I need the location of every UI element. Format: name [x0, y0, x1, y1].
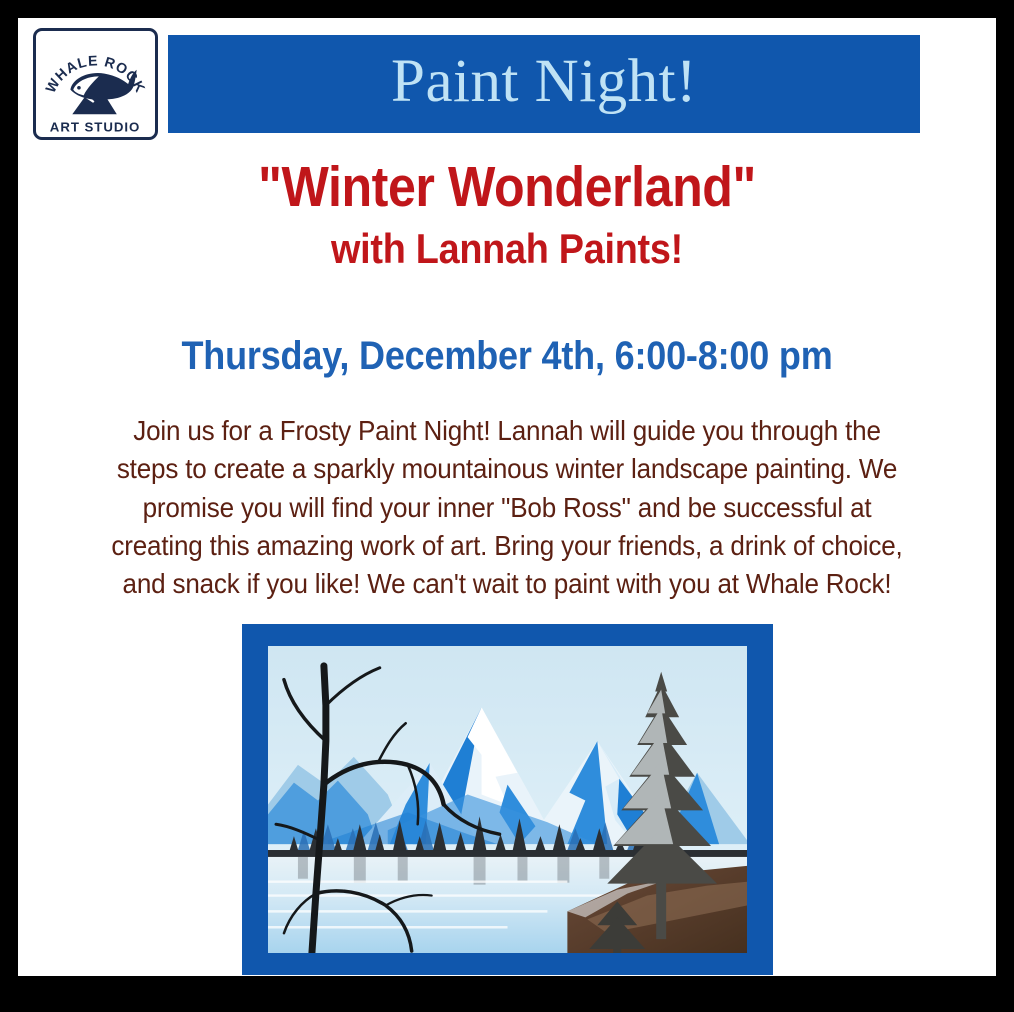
headline-block: "Winter Wonderland" with Lannah Paints! — [18, 158, 996, 273]
poster-page: WHALE ROCK ART STUDIO Paint Night! — [18, 18, 996, 976]
event-date-time: Thursday, December 4th, 6:00-8:00 pm — [67, 334, 947, 379]
poster-outer-frame: WHALE ROCK ART STUDIO Paint Night! — [0, 0, 1014, 1012]
svg-text:ART STUDIO: ART STUDIO — [50, 119, 140, 134]
event-title: "Winter Wonderland" — [77, 158, 938, 216]
event-subtitle: with Lannah Paints! — [67, 225, 947, 273]
whale-rock-art-studio-logo: WHALE ROCK ART STUDIO — [36, 31, 155, 137]
banner-title: Paint Night! — [391, 51, 697, 118]
painting-frame — [242, 624, 773, 975]
event-description: Join us for a Frosty Paint Night! Lannah… — [111, 412, 903, 604]
painting-artwork — [268, 646, 747, 953]
poster-header: WHALE ROCK ART STUDIO Paint Night! — [18, 18, 996, 148]
paint-night-banner: Paint Night! — [168, 35, 920, 133]
winter-mountain-lake-painting — [268, 646, 747, 953]
whale-rock-logo-box: WHALE ROCK ART STUDIO — [33, 28, 158, 140]
